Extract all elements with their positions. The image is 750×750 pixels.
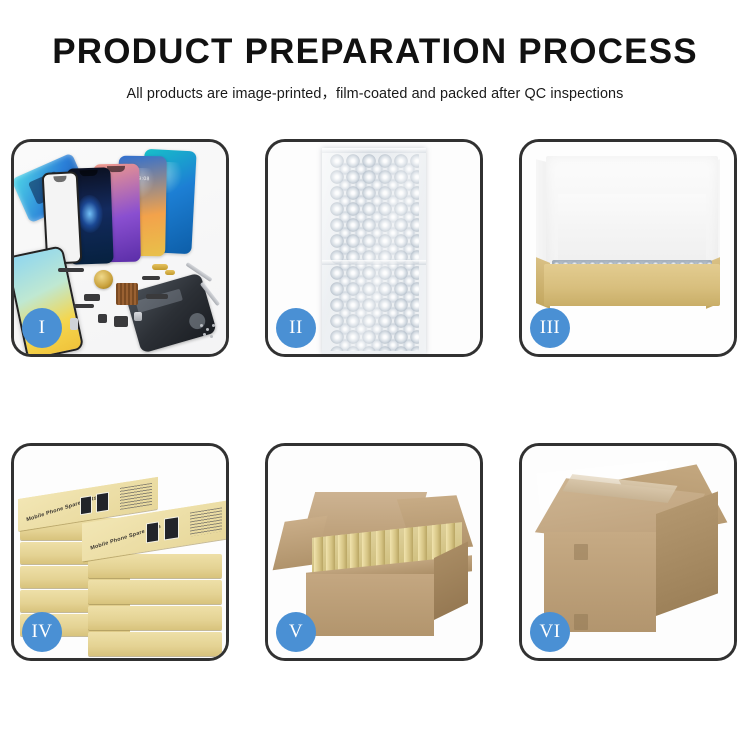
box-phone-graphic-a1 [80,495,92,515]
wireless-charging-coil-icon [94,270,113,289]
step-badge-2: II [276,308,316,348]
carton-tab-upper [574,544,588,560]
page-title: PRODUCT PREPARATION PROCESS [0,34,750,71]
box-phone-graphic-b1 [146,521,159,543]
camera-bracket-part [84,294,100,301]
process-step-3: III [519,139,737,357]
speaker-grille-part [58,268,84,272]
sealed-carton-side-face [656,491,718,616]
header: PRODUCT PREPARATION PROCESS All products… [0,0,750,103]
step-badge-6: VI [530,612,570,652]
process-step-1: 09:08 [11,139,229,357]
taptic-engine-part [114,316,128,327]
step-badge-3: III [530,308,570,348]
kraft-box-tray [544,264,720,306]
box-spec-lines-b [190,507,222,536]
stacked-box-right-5 [88,632,222,656]
sim-tray-part [70,318,78,330]
process-step-4: Mobile Phone Spare Parts Mobile Phone Sp… [11,443,229,661]
infographic-page: PRODUCT PREPARATION PROCESS All products… [0,0,750,750]
stacked-box-right-2 [88,554,222,578]
process-step-5: V [265,443,483,661]
carton-front-face [306,574,434,636]
box-lid-inner-face [558,194,706,266]
box-phone-graphic-b2 [164,516,179,540]
earpiece-mesh-part [98,314,107,323]
bubble-wrap-sleeve-icon [322,148,426,354]
volume-flex-part [146,294,168,299]
carton-tab-lower [574,614,588,630]
flex-cable-part-b [165,270,175,275]
battery-connector-part [134,312,142,321]
wrap-gloss-highlight [322,148,426,354]
process-step-grid: 09:08 [11,139,739,679]
process-step-2: II [265,139,483,357]
box-phone-graphic-a2 [96,492,109,513]
stacked-box-right-4 [88,606,222,630]
shield-grid-part [116,283,138,305]
step-badge-5: V [276,612,316,652]
antenna-flex-part [74,304,94,308]
power-flex-part [142,276,160,280]
page-subtitle: All products are image-printed，film-coat… [0,82,750,103]
stacked-box-right-3 [88,580,222,604]
flex-cable-part-a [152,264,168,270]
step-badge-1: I [22,308,62,348]
process-step-6: VI [519,443,737,661]
step-badge-4: IV [22,612,62,652]
